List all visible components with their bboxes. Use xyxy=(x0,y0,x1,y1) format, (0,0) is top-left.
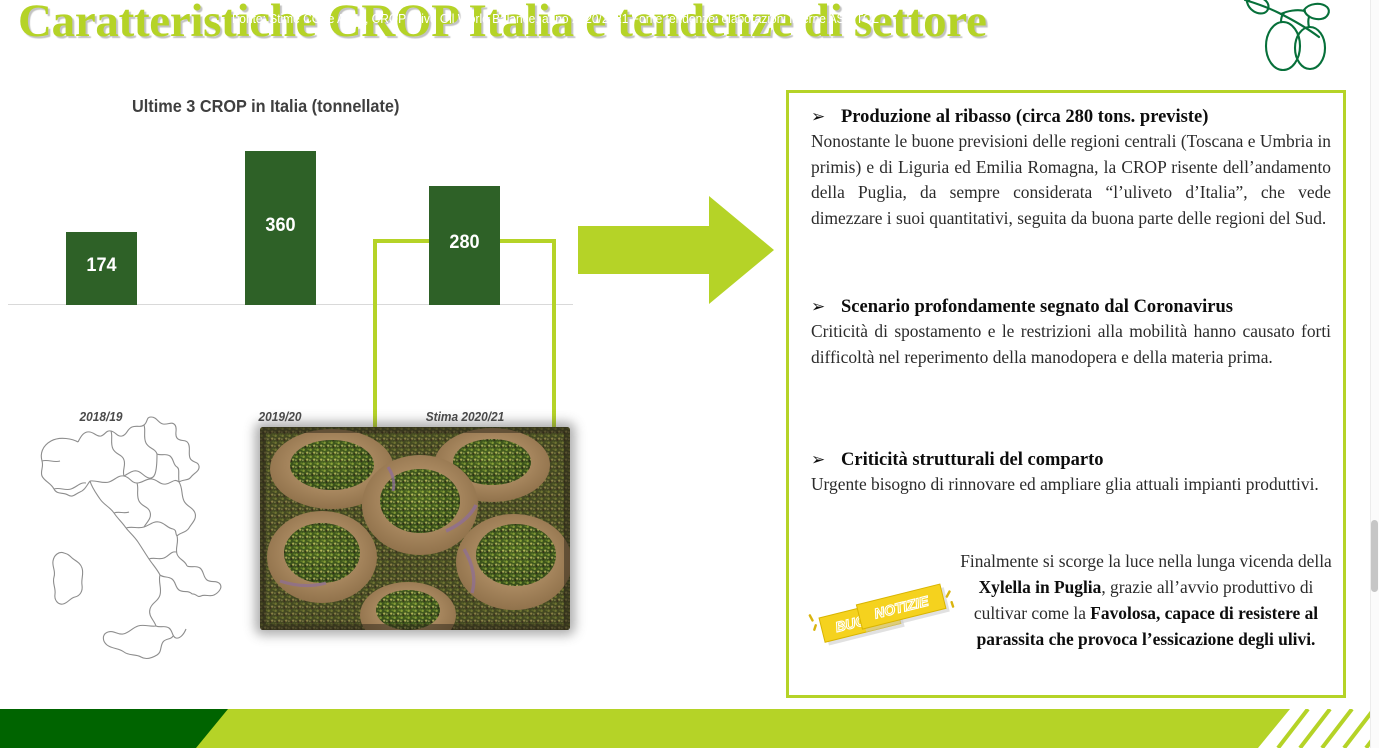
section-heading: ➢Scenario profondamente segnato dal Coro… xyxy=(811,297,1331,318)
italy-map-icon xyxy=(18,412,243,664)
scrollbar-track[interactable] xyxy=(1370,0,1379,748)
footer-source-text: Fonte: Stime COI e AICA, CROP Olive Oil … xyxy=(232,11,879,26)
footer-bar xyxy=(0,709,1379,748)
scrollbar-thumb[interactable] xyxy=(1371,520,1378,592)
panel-section-coronavirus: ➢Scenario profondamente segnato dal Coro… xyxy=(811,297,1331,370)
insights-panel: ➢Produzione al ribasso (circa 280 tons. … xyxy=(786,90,1346,698)
olive-sacks-photo xyxy=(260,427,570,630)
section-heading: ➢Produzione al ribasso (circa 280 tons. … xyxy=(811,107,1331,128)
chart-bar-value: 174 xyxy=(68,255,135,277)
chart-title: Ultime 3 CROP in Italia (tonnellate) xyxy=(132,96,399,117)
chart-bar-value: 280 xyxy=(431,232,498,254)
good-news-bold1: Xylella in Puglia xyxy=(979,577,1102,597)
good-news-text: Finalmente si scorge la luce nella lunga… xyxy=(957,548,1335,652)
buone-notizie-badge: BUONE NOTIZIE xyxy=(807,574,957,648)
bar-chart: Ultime 3 CROP in Italia (tonnellate) 174… xyxy=(0,92,580,352)
section-heading: ➢Criticità strutturali del comparto xyxy=(811,450,1331,471)
panel-section-production: ➢Produzione al ribasso (circa 280 tons. … xyxy=(811,107,1331,231)
slide-canvas: Caratteristiche CROP Italia e tendenze d… xyxy=(0,0,1379,748)
right-arrow-icon xyxy=(578,190,774,310)
chart-category-label: Stima 2020/21 xyxy=(408,410,522,424)
chart-bar-value: 360 xyxy=(247,215,314,237)
arrowhead-bullet-icon: ➢ xyxy=(811,107,841,127)
section-heading-text: Produzione al ribasso (circa 280 tons. p… xyxy=(841,107,1208,127)
arrowhead-bullet-icon: ➢ xyxy=(811,450,841,470)
good-news-block: BUONE NOTIZIE Finalment xyxy=(807,548,1335,678)
arrowhead-bullet-icon: ➢ xyxy=(811,297,841,317)
good-news-part1: Finalmente si scorge la luce nella lunga… xyxy=(960,551,1332,571)
section-body: Urgente bisogno di rinnovare ed ampliare… xyxy=(811,472,1331,498)
panel-section-criticita: ➢Criticità strutturali del comparto Urge… xyxy=(811,450,1331,498)
section-body: Nonostante le buone previsioni delle reg… xyxy=(811,129,1331,231)
section-heading-text: Scenario profondamente segnato dal Coron… xyxy=(841,297,1233,317)
section-body: Criticità di spostamento e le restrizion… xyxy=(811,319,1331,370)
section-heading-text: Criticità strutturali del comparto xyxy=(841,450,1104,470)
olive-branch-icon xyxy=(1241,0,1341,72)
